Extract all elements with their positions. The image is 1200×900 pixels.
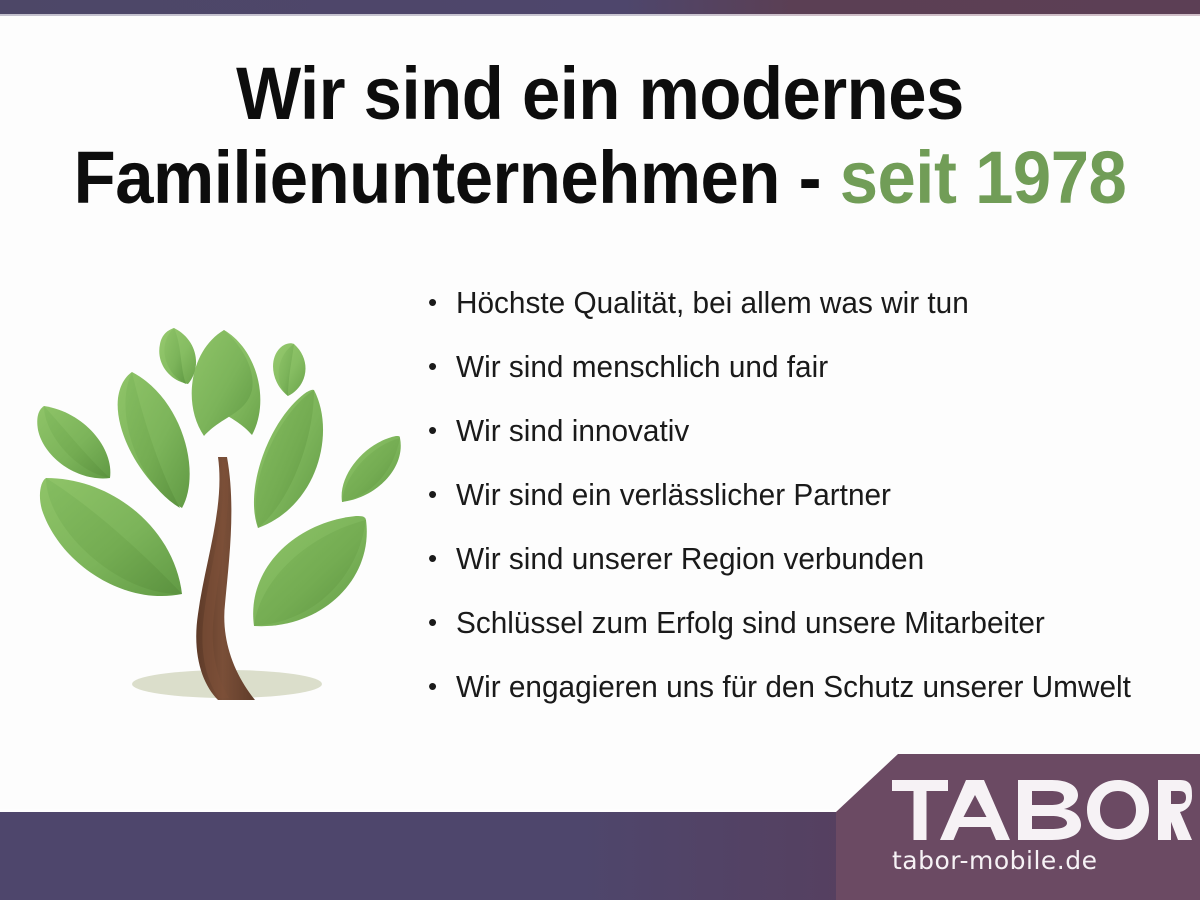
tabor-wordmark-svg [892,780,1192,840]
tabor-wordmark [892,780,1192,840]
top-accent-bar [0,0,1200,14]
title-accent-year: seit 1978 [840,136,1127,219]
bullet-marker-icon: • [428,353,456,379]
title-line-2-main: Familienunternehmen - [74,136,840,219]
brand-url-label: tabor-mobile.de [892,846,1192,875]
title-line-2: Familienunternehmen - seit 1978 [42,136,1158,220]
title-line-1: Wir sind ein modernes [42,52,1158,136]
page-title: Wir sind ein modernes Familienunternehme… [0,52,1200,220]
list-item: • Wir sind menschlich und fair [428,350,1188,414]
list-item-label: Wir sind ein verlässlicher Partner [456,478,891,512]
bullet-marker-icon: • [428,289,456,315]
list-item: • Wir sind unserer Region verbunden [428,542,1188,606]
list-item-label: Wir engagieren uns für den Schutz unsere… [456,670,1131,704]
list-item-label: Höchste Qualität, bei allem was wir tun [456,286,969,320]
tree-logo-svg [22,302,422,720]
slide-canvas: Wir sind ein modernes Familienunternehme… [0,0,1200,900]
values-bullet-list: • Höchste Qualität, bei allem was wir tu… [428,286,1188,734]
bullet-marker-icon: • [428,609,456,635]
top-accent-bar-edge [0,14,1200,16]
wordmark-letter-O [1087,780,1149,840]
bullet-marker-icon: • [428,673,456,699]
list-item: • Schlüssel zum Erfolg sind unsere Mitar… [428,606,1188,670]
list-item-label: Wir sind innovativ [456,414,689,448]
wordmark-letter-A [940,780,1010,840]
wordmark-letter-R [1158,780,1192,840]
brand-logo-block[interactable]: tabor-mobile.de [836,754,1200,900]
list-item-label: Wir sind unserer Region verbunden [456,542,924,576]
list-item: • Wir engagieren uns für den Schutz unse… [428,670,1188,734]
list-item: • Wir sind innovativ [428,414,1188,478]
tree-logo [22,302,422,720]
bullet-marker-icon: • [428,417,456,443]
bullet-marker-icon: • [428,545,456,571]
list-item: • Wir sind ein verlässlicher Partner [428,478,1188,542]
bullet-marker-icon: • [428,481,456,507]
list-item-label: Schlüssel zum Erfolg sind unsere Mitarbe… [456,606,1045,640]
list-item-label: Wir sind menschlich und fair [456,350,828,384]
list-item: • Höchste Qualität, bei allem was wir tu… [428,286,1188,350]
wordmark-letter-B [1018,780,1081,840]
wordmark-letter-T [892,780,948,840]
